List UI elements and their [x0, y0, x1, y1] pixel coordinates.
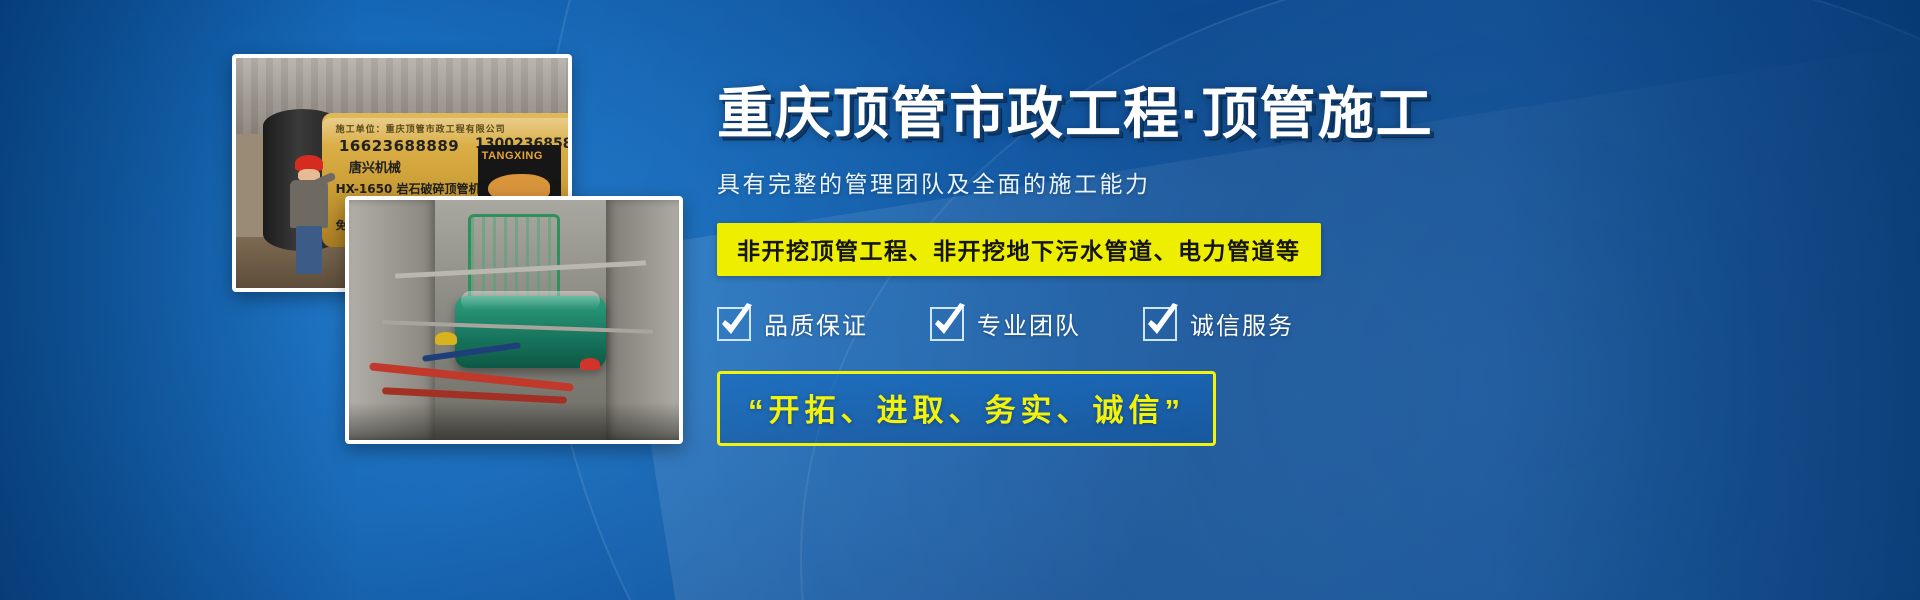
trench-photo-content	[349, 200, 679, 440]
banner-subtitle: 具有完整的管理团队及全面的施工能力	[717, 165, 1817, 199]
machine-company-line: 施工单位：重庆顶管市政工程有限公司	[336, 122, 506, 135]
red-hard-hat-icon-2	[580, 358, 600, 370]
machine-model-line: HX-1650 岩石破碎顶管机	[336, 180, 481, 197]
feature-list: 品质保证 专业团队 诚信服务	[717, 306, 1817, 341]
slogan-text: “开拓、进取、务实、诚信”	[748, 393, 1185, 428]
yellow-hard-hat-icon	[435, 332, 457, 345]
machine-phone-1: 16623688889	[339, 137, 459, 155]
green-rebar-cage	[468, 214, 560, 300]
promo-banner: 施工单位：重庆顶管市政工程有限公司 16623688889 1300236858…	[0, 0, 1920, 600]
green-machine-highlight	[461, 291, 600, 310]
services-highlight-bar: 非开挖顶管工程、非开挖地下污水管道、电力管道等	[717, 223, 1321, 276]
feature-item-quality[interactable]: 品质保证	[717, 306, 868, 341]
feature-item-service[interactable]: 诚信服务	[1143, 306, 1294, 341]
tangxing-logo-text: TANGXING	[482, 150, 543, 162]
machine-brand-cn: 唐兴机械	[349, 157, 401, 176]
trench-construction-photo[interactable]	[345, 196, 683, 444]
worker-jacket	[290, 180, 328, 228]
checkbox-checked-icon	[717, 307, 751, 341]
slogan-box: “开拓、进取、务实、诚信”	[717, 371, 1216, 446]
banner-content: 重庆顶管市政工程·顶管施工 具有完整的管理团队及全面的施工能力 非开挖顶管工程、…	[717, 84, 1817, 446]
construction-worker	[289, 155, 329, 275]
feature-label-team: 专业团队	[977, 306, 1081, 341]
feature-item-team[interactable]: 专业团队	[930, 306, 1081, 341]
feature-label-service: 诚信服务	[1190, 306, 1294, 341]
banner-title: 重庆顶管市政工程·顶管施工	[717, 84, 1817, 143]
checkbox-checked-icon	[930, 307, 964, 341]
trench-floor-shadow	[349, 402, 679, 440]
checkbox-checked-icon	[1143, 307, 1177, 341]
worker-jeans	[296, 226, 321, 274]
feature-label-quality: 品质保证	[764, 306, 868, 341]
